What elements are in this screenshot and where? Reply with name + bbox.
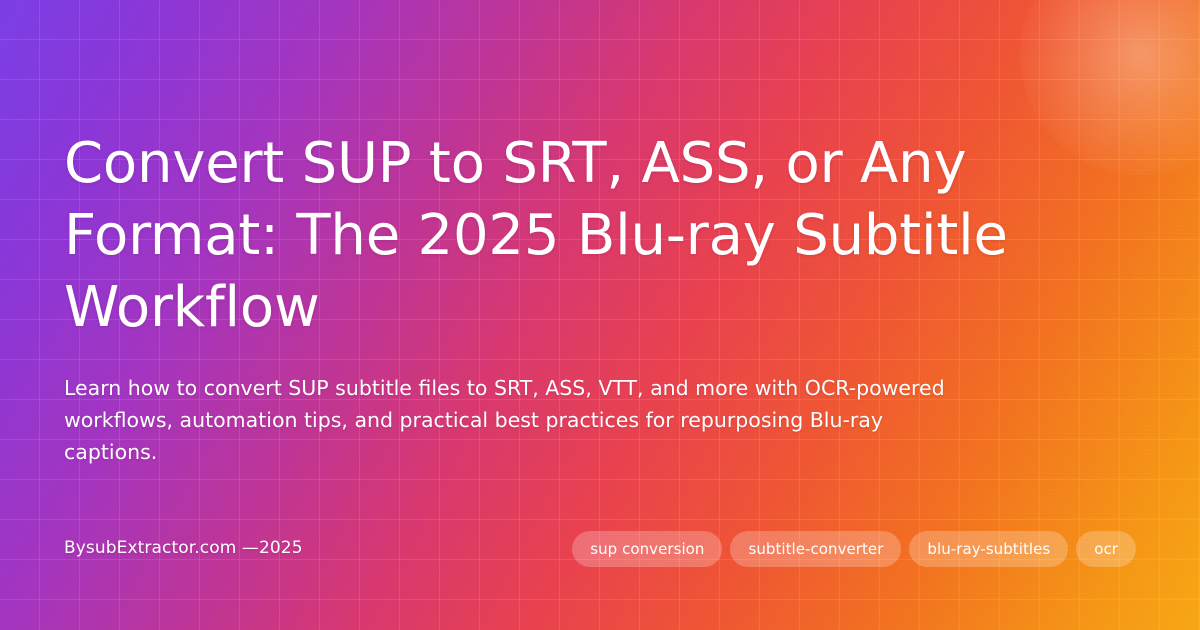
page-subtitle: Learn how to convert SUP subtitle files …	[64, 372, 964, 468]
tag-pill[interactable]: ocr	[1076, 531, 1136, 567]
page-title: Convert SUP to SRT, ASS, or Any Format: …	[64, 128, 1074, 344]
tag-pill[interactable]: sup conversion	[572, 531, 722, 567]
card-content: Convert SUP to SRT, ASS, or Any Format: …	[0, 0, 1200, 630]
tag-pill[interactable]: subtitle-converter	[730, 531, 901, 567]
tag-list: sup conversion subtitle-converter blu-ra…	[572, 531, 1136, 567]
tag-pill[interactable]: blu-ray-subtitles	[909, 531, 1068, 567]
site-byline: BysubExtractor.com —2025	[64, 537, 303, 559]
og-banner-card: Convert SUP to SRT, ASS, or Any Format: …	[0, 0, 1200, 630]
